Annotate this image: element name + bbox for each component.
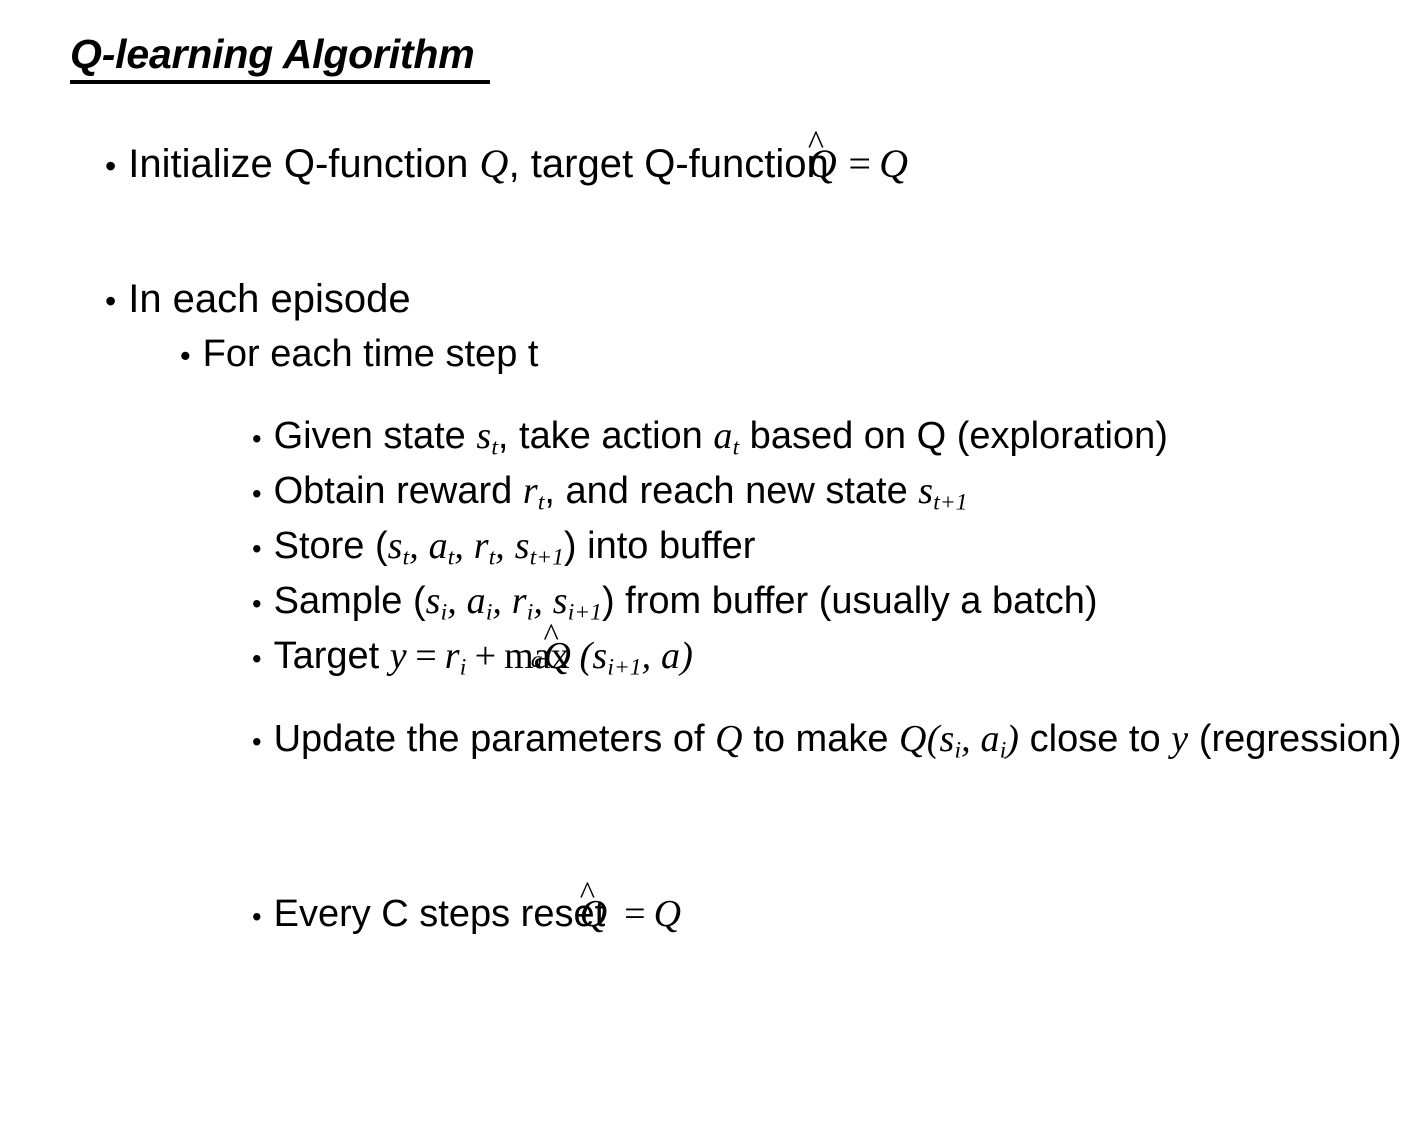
bullet-dot-icon: • xyxy=(252,588,274,619)
math-reward-r: rt xyxy=(523,470,545,512)
bullet-initialize-text-a: Initialize Q-function xyxy=(128,142,479,186)
math-max-subscript: a xyxy=(531,649,543,673)
math-next-state-s: st+1 xyxy=(918,470,967,512)
math-update-s: si xyxy=(940,718,962,760)
math-sample-a: ai xyxy=(467,580,493,622)
math-sample-r: ri xyxy=(512,580,534,622)
math-store-s2: st+1 xyxy=(515,525,564,567)
bullet-sample: •Sample (si, ai, ri, si+1) from buffer (… xyxy=(0,575,1428,630)
math-equals: = xyxy=(407,635,445,677)
bullet-store-text-a: Store ( xyxy=(274,525,388,567)
math-state-s-base: s xyxy=(476,415,491,457)
bullet-dot-icon: • xyxy=(252,643,274,674)
bullet-dot-icon: • xyxy=(252,423,274,454)
math-q2: Q xyxy=(879,141,908,186)
math-update-q1: Q xyxy=(715,718,743,760)
math-update-s-base: s xyxy=(940,718,955,760)
bullet-initialize: •Initialize Q-function Q, target Q-funct… xyxy=(0,136,1428,193)
bullet-sample-text-b: ) from buffer (usually a batch) xyxy=(602,580,1098,622)
slide-canvas: Q-learning Algorithm •Initialize Q-funct… xyxy=(0,0,1428,1142)
math-state-s: st xyxy=(476,415,498,457)
math-paren-close: ) xyxy=(680,635,693,677)
math-target-a: a xyxy=(661,635,680,677)
bullet-obtain-reward-text-a: Obtain reward xyxy=(274,470,523,512)
title-underline xyxy=(70,80,490,84)
math-target-r: ri xyxy=(445,635,467,677)
math-paren-open: ( xyxy=(580,635,593,677)
bullet-update-text-c: close to xyxy=(1019,718,1171,760)
math-update-a: ai xyxy=(981,718,1007,760)
math-target-s-subscript: i+1 xyxy=(607,654,641,680)
math-update-y: y xyxy=(1171,718,1188,760)
math-store-s-base: s xyxy=(388,525,403,567)
math-sample-s2-base: s xyxy=(553,580,568,622)
bullet-given-state: •Given state st, take action at based on… xyxy=(0,410,1428,465)
page-title: Q-learning Algorithm xyxy=(70,34,474,75)
bullet-given-state-text-c: based on Q (exploration) xyxy=(739,415,1168,457)
math-next-state-s-base: s xyxy=(918,470,933,512)
bullet-obtain-reward: •Obtain reward rt, and reach new state s… xyxy=(0,465,1428,520)
math-q: Q xyxy=(654,893,682,935)
math-equals: = xyxy=(616,893,654,935)
math-action-a-base: a xyxy=(713,415,732,457)
bullet-dot-icon: • xyxy=(105,148,128,184)
bullet-for-each-time-step: •For each time step t xyxy=(0,328,1428,382)
math-comma: , xyxy=(961,718,980,760)
bullet-store: •Store (st, at, rt, st+1) into buffer xyxy=(0,520,1428,575)
algorithm-bullet-list: •Initialize Q-function Q, target Q-funct… xyxy=(0,136,1428,942)
math-store-s2-subscript: t+1 xyxy=(530,544,564,570)
bullet-dot-icon: • xyxy=(180,339,203,373)
spacer xyxy=(0,193,1428,271)
bullet-obtain-reward-text-b: , and reach new state xyxy=(544,470,918,512)
math-comma-3: , xyxy=(495,525,514,567)
math-sample-s2: si+1 xyxy=(553,580,602,622)
math-comma-2: , xyxy=(492,580,511,622)
bullet-given-state-text-b: , take action xyxy=(498,415,713,457)
bullet-update-text-d: (regression) xyxy=(1188,718,1401,760)
math-target-r-base: r xyxy=(445,635,460,677)
bullet-update: •Update the parameters of Q to make Q(si… xyxy=(0,713,1428,768)
math-comma: , xyxy=(642,635,661,677)
math-store-r: rt xyxy=(474,525,496,567)
spacer xyxy=(0,382,1428,410)
math-target-s: si+1 xyxy=(592,635,641,677)
math-store-s: st xyxy=(388,525,410,567)
math-plus: + xyxy=(466,635,504,677)
math-comma-2: , xyxy=(454,525,473,567)
bullet-every-c-steps-text-a: Every C steps reset xyxy=(274,893,616,935)
math-comma-1: , xyxy=(409,525,428,567)
math-sample-s2-subscript: i+1 xyxy=(568,599,602,625)
bullet-given-state-text-a: Given state xyxy=(274,415,477,457)
math-reward-r-base: r xyxy=(523,470,538,512)
bullet-store-text-b: ) into buffer xyxy=(564,525,756,567)
math-store-a-base: a xyxy=(429,525,448,567)
bullet-dot-icon: • xyxy=(252,726,274,757)
math-target-y: y xyxy=(390,635,407,677)
bullet-initialize-text-b: , target Q-function xyxy=(509,142,840,186)
math-sample-r-base: r xyxy=(512,580,527,622)
bullet-dot-icon: • xyxy=(252,533,274,564)
bullet-target: •Target y=ri+maxa^Q(si+1, a) xyxy=(0,630,1428,685)
spacer xyxy=(0,685,1428,713)
bullet-sample-text-a: Sample ( xyxy=(274,580,426,622)
spacer xyxy=(0,828,1428,888)
bullet-for-each-time-step-text: For each time step t xyxy=(203,333,539,375)
bullet-target-text-a: Target xyxy=(274,635,390,677)
math-comma-3: , xyxy=(533,580,552,622)
bullet-in-each-episode: •In each episode xyxy=(0,271,1428,328)
bullet-update-text-b: to make xyxy=(743,718,899,760)
math-paren-open: ( xyxy=(927,718,940,760)
math-action-a: at xyxy=(713,415,739,457)
bullet-in-each-episode-text: In each episode xyxy=(128,277,410,321)
bullet-dot-icon: • xyxy=(252,901,274,932)
math-next-state-s-subscript: t+1 xyxy=(933,489,967,515)
bullet-dot-icon: • xyxy=(252,478,274,509)
math-paren-close: ) xyxy=(1006,718,1019,760)
math-update-q2: Q xyxy=(899,718,927,760)
math-update-a-base: a xyxy=(981,718,1000,760)
math-store-a: at xyxy=(429,525,455,567)
math-comma-1: , xyxy=(447,580,466,622)
math-store-s2-base: s xyxy=(515,525,530,567)
bullet-every-c-steps: •Every C steps reset ^Q=Q xyxy=(0,888,1428,942)
math-sample-s: si xyxy=(426,580,448,622)
bullet-update-text-a: Update the parameters of xyxy=(274,718,715,760)
math-q: Q xyxy=(479,141,508,186)
math-target-s-base: s xyxy=(592,635,607,677)
math-sample-a-base: a xyxy=(467,580,486,622)
math-sample-s-base: s xyxy=(426,580,441,622)
bullet-dot-icon: • xyxy=(105,283,128,319)
math-store-r-base: r xyxy=(474,525,489,567)
spacer xyxy=(0,768,1428,828)
math-equals: = xyxy=(840,141,879,186)
